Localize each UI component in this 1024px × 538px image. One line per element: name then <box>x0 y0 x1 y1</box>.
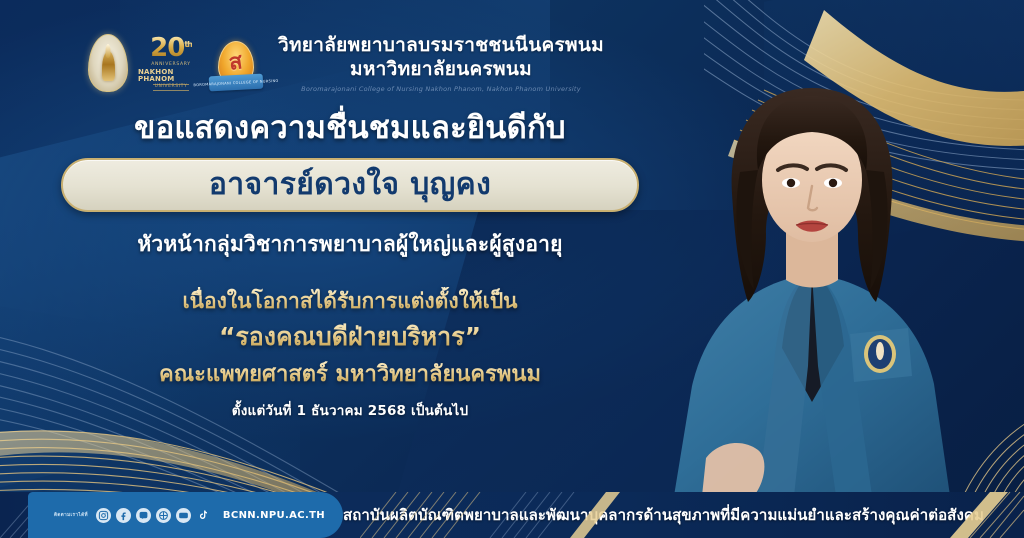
main-content: ขอแสดงความชื่นชมและยินดีกับ อาจารย์ดวงใจ… <box>0 108 700 421</box>
nursing-emblem-icon: ส BOROMARAJONANI COLLEGE OF NURSING <box>214 35 258 91</box>
congratulation-banner: 20th ANNIVERSARY NAKHON PHANOM UNIVERSIT… <box>0 0 1024 538</box>
anniversary-university: NAKHON PHANOM <box>138 69 204 83</box>
footer-bar: ติดตามเราได้ที่ <box>0 492 1024 538</box>
anniversary-superscript: th <box>184 40 192 49</box>
nursing-emblem-symbol: ส <box>228 51 244 75</box>
org-name-line2: มหาวิทยาลัยนครพนม <box>350 58 532 82</box>
nursing-ribbon-text: BOROMARAJONANI COLLEGE OF NURSING <box>193 79 278 87</box>
banner-header: 20th ANNIVERSARY NAKHON PHANOM UNIVERSIT… <box>88 34 604 93</box>
website-url[interactable]: BCNN.NPU.AC.TH <box>223 510 325 521</box>
follow-label: ติดตามเราได้ที่ <box>54 512 88 519</box>
youtube-icon[interactable] <box>176 508 191 523</box>
footer-tagline: สถาบันผลิตบัณฑิตพยาบาลและพัฒนาบุคลากรด้า… <box>343 503 1024 527</box>
new-position: “รองคณบดีฝ่ายบริหาร” <box>0 319 700 355</box>
anniversary-number: 20th <box>150 35 192 61</box>
org-name-line1: วิทยาลัยพยาบาลบรมราชชนนีนครพนม <box>278 34 604 58</box>
faculty-name: คณะแพทยศาสตร์ มหาวิทยาลัยนครพนม <box>0 359 700 390</box>
occasion-line: เนื่องในโอกาสได้รับการแต่งตั้งให้เป็น <box>0 287 700 317</box>
facebook-icon[interactable] <box>116 508 131 523</box>
appointment-block: เนื่องในโอกาสได้รับการแต่งตั้งให้เป็น “ร… <box>0 287 700 390</box>
current-position: หัวหน้ากลุ่มวิชาการพยาบาลผู้ใหญ่และผู้สู… <box>0 228 700 261</box>
org-name-english: Boromarajonani College of Nursing Nakhon… <box>301 85 581 93</box>
line-icon[interactable] <box>136 508 151 523</box>
honoree-portrait <box>662 66 962 496</box>
tiktok-icon[interactable] <box>196 508 211 523</box>
congratulation-headline: ขอแสดงความชื่นชมและยินดีกับ <box>0 108 700 148</box>
twitter-icon[interactable] <box>156 508 171 523</box>
effective-date: ตั้งแต่วันที่ 1 ธันวาคม 2568 เป็นต้นไป <box>0 399 700 421</box>
social-links-group: ติดตามเราได้ที่ <box>28 492 343 538</box>
logo-group: 20th ANNIVERSARY NAKHON PHANOM UNIVERSIT… <box>88 34 258 92</box>
honoree-name: อาจารย์ดวงใจ บุญคง <box>209 170 491 200</box>
honoree-name-pill: อาจารย์ดวงใจ บุญคง <box>61 158 639 212</box>
anniversary-university-sub: UNIVERSITY <box>153 84 190 92</box>
nursing-emblem-ribbon: BOROMARAJONANI COLLEGE OF NURSING <box>209 74 264 92</box>
royal-emblem-icon <box>88 34 128 92</box>
organization-name: วิทยาลัยพยาบาลบรมราชชนนีนครพนม มหาวิทยาล… <box>278 34 604 93</box>
instagram-icon[interactable] <box>96 508 111 523</box>
